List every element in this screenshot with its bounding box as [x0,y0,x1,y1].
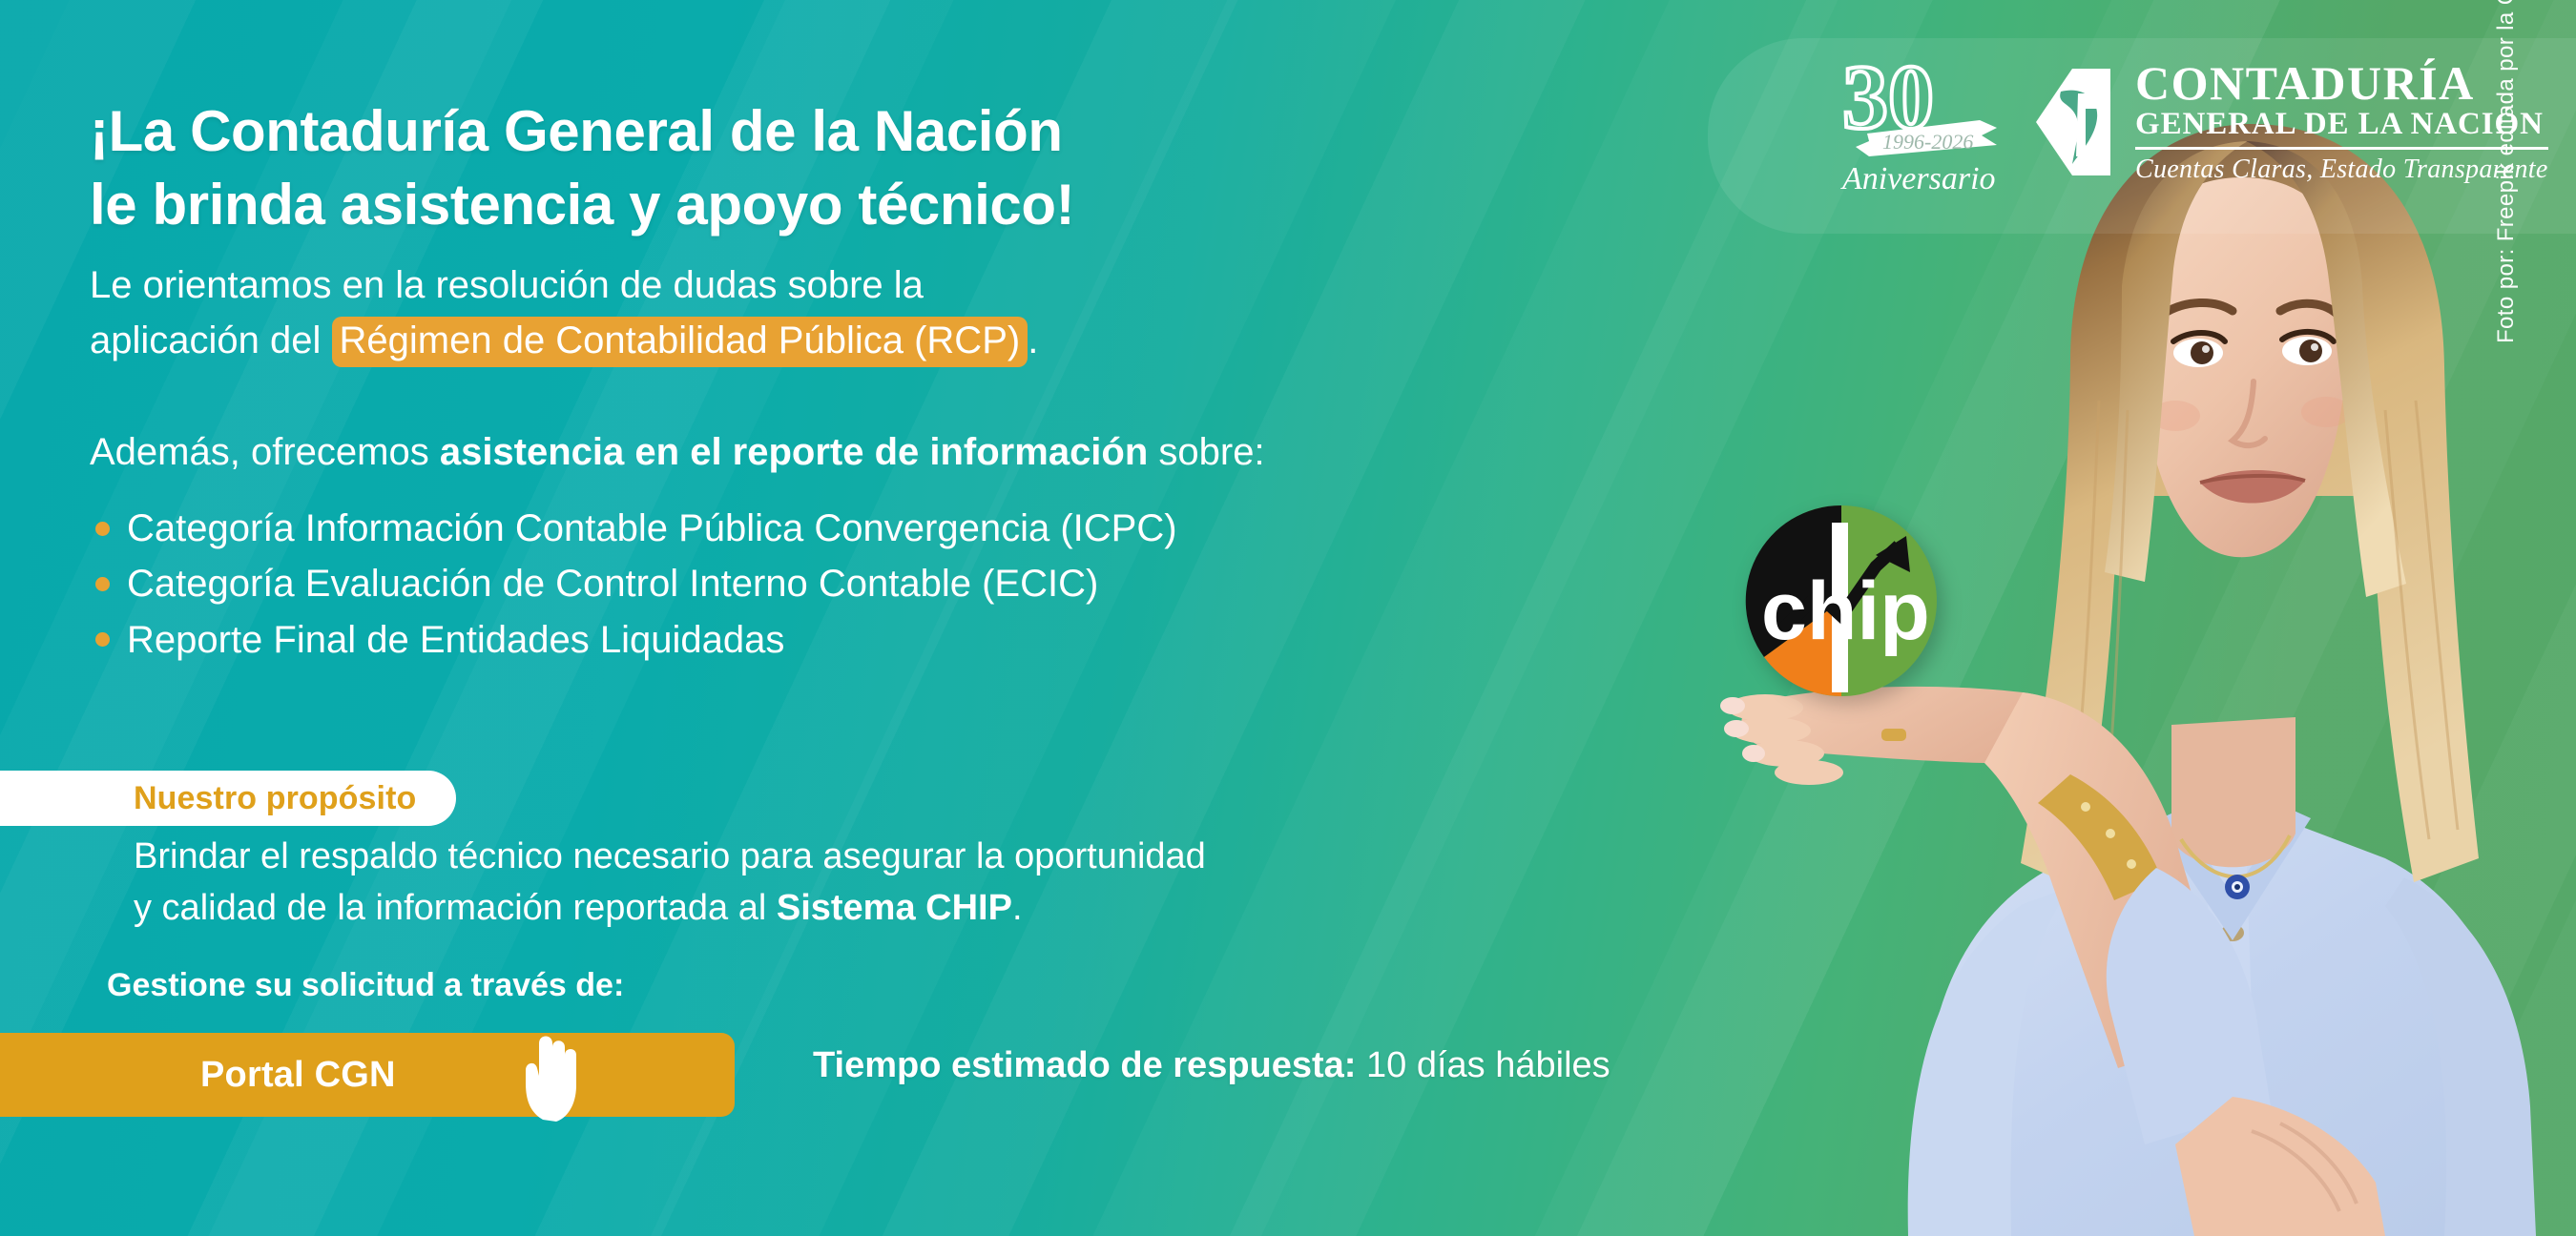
purpose-pill: Nuestro propósito [0,771,456,826]
cgn-tagline: Cuentas Claras, Estado Transparente [2135,154,2548,185]
portal-cgn-button[interactable]: Portal CGN [0,1033,735,1117]
cgn-logo: 30 1996-2026 Aniversario CONTADURÍA GENE… [1837,46,2548,198]
rcp-highlight: Régimen de Contabilidad Pública (RCP) [332,317,1028,367]
cta-label: Gestione su solicitud a través de: [107,967,624,1004]
bullet-dot-icon [95,577,110,591]
portal-cgn-button-label: Portal CGN [200,1055,396,1096]
lead-line-2-prefix: aplicación del [90,319,332,361]
lead-paragraph: Le orientamos en la resolución de dudas … [90,259,1038,366]
anniversary-word-text: Aniversario [1840,161,1996,196]
purpose-line-2: y calidad de la información reportada al… [134,883,1206,935]
headline-line-2: le brinda asistencia y apoyo técnico! [90,169,1074,242]
eta-label: Tiempo estimado de respuesta: [813,1045,1356,1085]
offer-prefix: Además, ofrecemos [90,431,440,473]
cgn-quill-shield-icon [2028,65,2116,179]
purpose-line-1: Brindar el respaldo técnico necesario pa… [134,832,1206,883]
chip-logo: chip [1736,496,1946,706]
cgn-org-line1: CONTADURÍA [2135,59,2548,107]
offer-bullet-list: Categoría Información Contable Pública C… [95,501,1177,668]
photo-credit: Foto por: Freepik editada por la CGN [2493,0,2520,343]
lead-line-2-suffix: . [1028,319,1038,361]
list-item: Categoría Evaluación de Control Interno … [95,556,1177,611]
anniversary-years-text: 1996-2026 [1882,130,1973,154]
purpose-body: Brindar el respaldo técnico necesario pa… [134,832,1206,935]
offer-bold: asistencia en el reporte de información [440,431,1148,473]
offer-suffix: sobre: [1148,431,1264,473]
headline: ¡La Contaduría General de la Nación le b… [90,95,1074,242]
pointing-hand-icon [520,1028,587,1123]
bullet-dot-icon [95,522,110,536]
bullet-dot-icon [95,632,110,647]
bullet-label: Reporte Final de Entidades Liquidadas [127,612,784,668]
list-item: Reporte Final de Entidades Liquidadas [95,612,1177,668]
chip-wordmark: chip [1761,566,1930,657]
lead-line-2: aplicación del Régimen de Contabilidad P… [90,315,1038,366]
lead-line-1: Le orientamos en la resolución de dudas … [90,259,1038,311]
cgn-divider [2135,147,2548,150]
bullet-label: Categoría Evaluación de Control Interno … [127,556,1098,611]
offer-line: Además, ofrecemos asistencia en el repor… [90,431,1265,474]
purpose-line-2-bold: Sistema CHIP [777,888,1012,928]
headline-line-1: ¡La Contaduría General de la Nación [90,95,1074,169]
purpose-line-2-suffix: . [1012,888,1023,928]
cgn-org-line2: GENERAL DE LA NACIÓN [2135,107,2548,143]
estimated-response-time: Tiempo estimado de respuesta: 10 días há… [813,1045,1610,1086]
bullet-label: Categoría Información Contable Pública C… [127,501,1177,556]
anniversary-emblem: 30 1996-2026 Aniversario [1837,46,2013,198]
purpose-line-2-prefix: y calidad de la información reportada al [134,888,777,928]
list-item: Categoría Información Contable Pública C… [95,501,1177,556]
purpose-pill-label: Nuestro propósito [134,780,416,817]
banner-root: chip 30 1996-2026 Aniversario CONTA [0,0,2576,1236]
eta-value: 10 días hábiles [1356,1045,1610,1085]
